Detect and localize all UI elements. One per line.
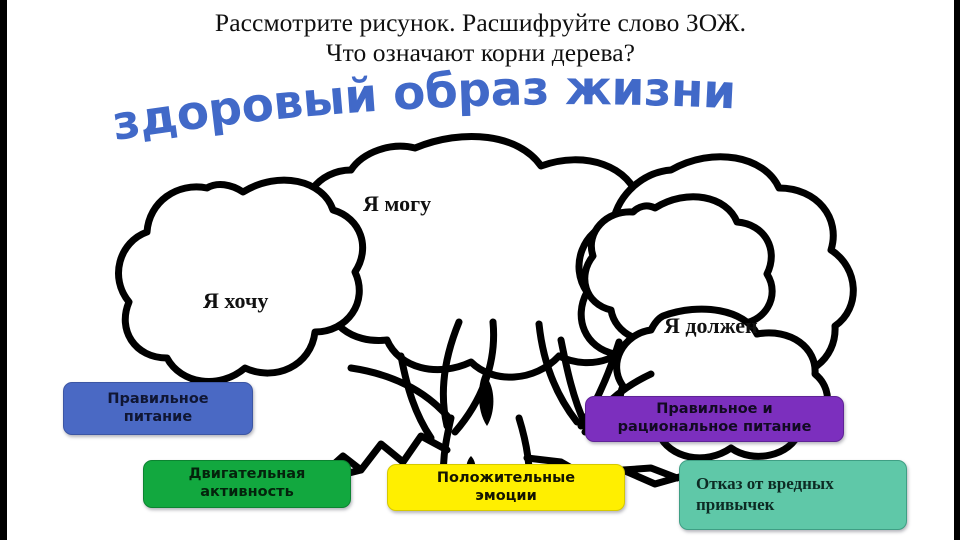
question-line-2: Что означают корни дерева?	[7, 38, 954, 68]
concept-box-line-2: питание	[107, 409, 208, 427]
question-text: Рассмотрите рисунок. Расшифруйте слово З…	[7, 8, 954, 68]
question-line-1: Рассмотрите рисунок. Расшифруйте слово З…	[215, 8, 746, 37]
concept-box-dvigatelnaya-aktivnost[interactable]: Двигательная активность	[143, 460, 351, 508]
concept-box-line-2: рациональное питание	[618, 419, 812, 437]
concept-box-line-1: Правильное	[107, 391, 208, 409]
concept-box-line-1: Положительные	[437, 470, 575, 488]
concept-box-text: Положительные эмоции	[437, 470, 575, 505]
concept-box-pravilnoe-pitanie[interactable]: Правильное питание	[63, 382, 253, 435]
concept-box-line-1: Правильное и	[618, 401, 812, 419]
trunk-knot	[479, 374, 493, 426]
concept-box-line-1: Отказ от вредных	[696, 474, 834, 495]
tree-label-hochu: Я хочу	[203, 288, 268, 314]
branch-left-lower	[351, 368, 449, 418]
tree-label-doljen: Я должен	[664, 313, 758, 339]
concept-box-otkaz-ot-vrednyh-privychek[interactable]: Отказ от вредных привычек	[679, 460, 907, 530]
concept-box-racionalnoe-pitanie[interactable]: Правильное и рациональное питание	[585, 396, 844, 442]
concept-box-line-2: эмоции	[437, 488, 575, 506]
concept-box-text: Двигательная активность	[189, 466, 306, 501]
concept-box-line-2: привычек	[696, 495, 834, 516]
slide-canvas: Рассмотрите рисунок. Расшифруйте слово З…	[0, 0, 960, 540]
concept-box-polozhitelnye-emocii[interactable]: Положительные эмоции	[387, 464, 625, 511]
concept-box-line-1: Двигательная	[189, 466, 306, 484]
concept-box-text: Правильное питание	[107, 391, 208, 426]
foliage-cloud-far-left	[119, 180, 363, 381]
tree-label-mogu: Я могу	[363, 191, 431, 217]
concept-box-line-2: активность	[189, 484, 306, 502]
concept-box-text: Правильное и рациональное питание	[618, 401, 812, 436]
concept-box-text: Отказ от вредных привычек	[696, 474, 834, 515]
tree-illustration: Я могу Я хочу Я должен	[115, 126, 875, 506]
